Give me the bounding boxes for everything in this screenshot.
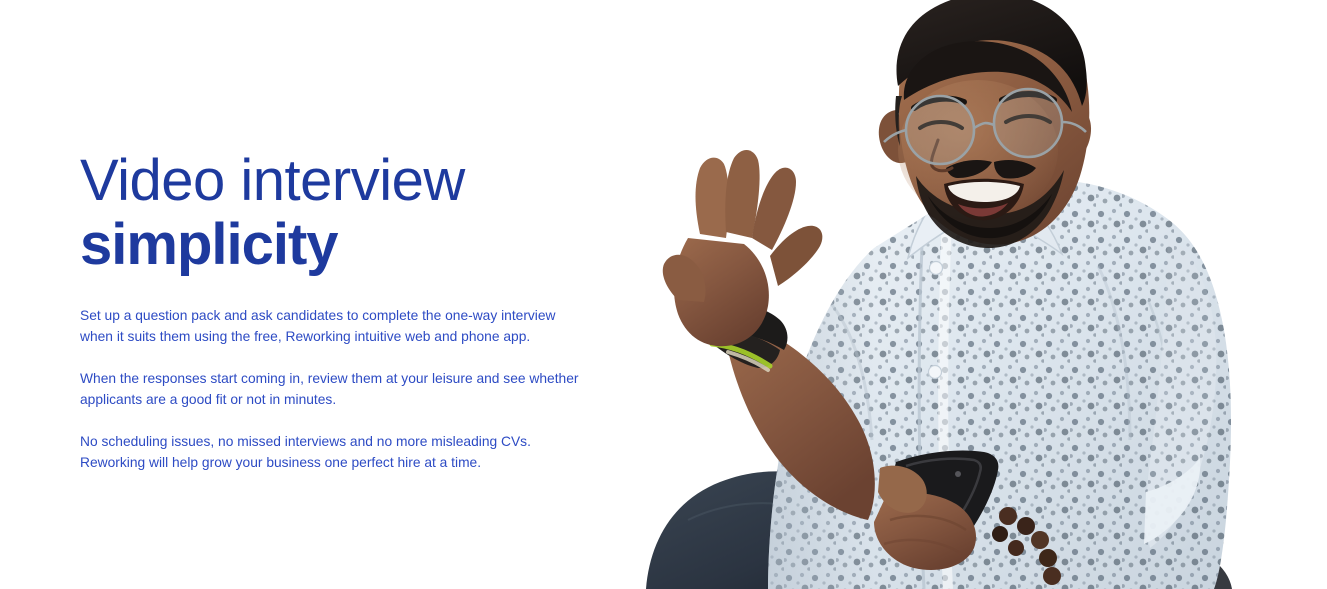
hero-body-copy: Set up a question pack and ask candidate… (80, 306, 660, 473)
page-title: Video interview simplicity (80, 152, 660, 274)
hero-paragraph-3: No scheduling issues, no missed intervie… (80, 432, 660, 473)
hero-paragraph-1: Set up a question pack and ask candidate… (80, 306, 660, 347)
headline-line-2: simplicity (80, 216, 660, 274)
smiling-man-with-phone-photo (628, 0, 1327, 589)
hero-copy-column: Video interview simplicity Set up a ques… (80, 152, 660, 473)
headline-line-1: Video interview (80, 152, 660, 210)
hero-section: Video interview simplicity Set up a ques… (0, 0, 1327, 589)
hero-paragraph-2: When the responses start coming in, revi… (80, 369, 660, 410)
